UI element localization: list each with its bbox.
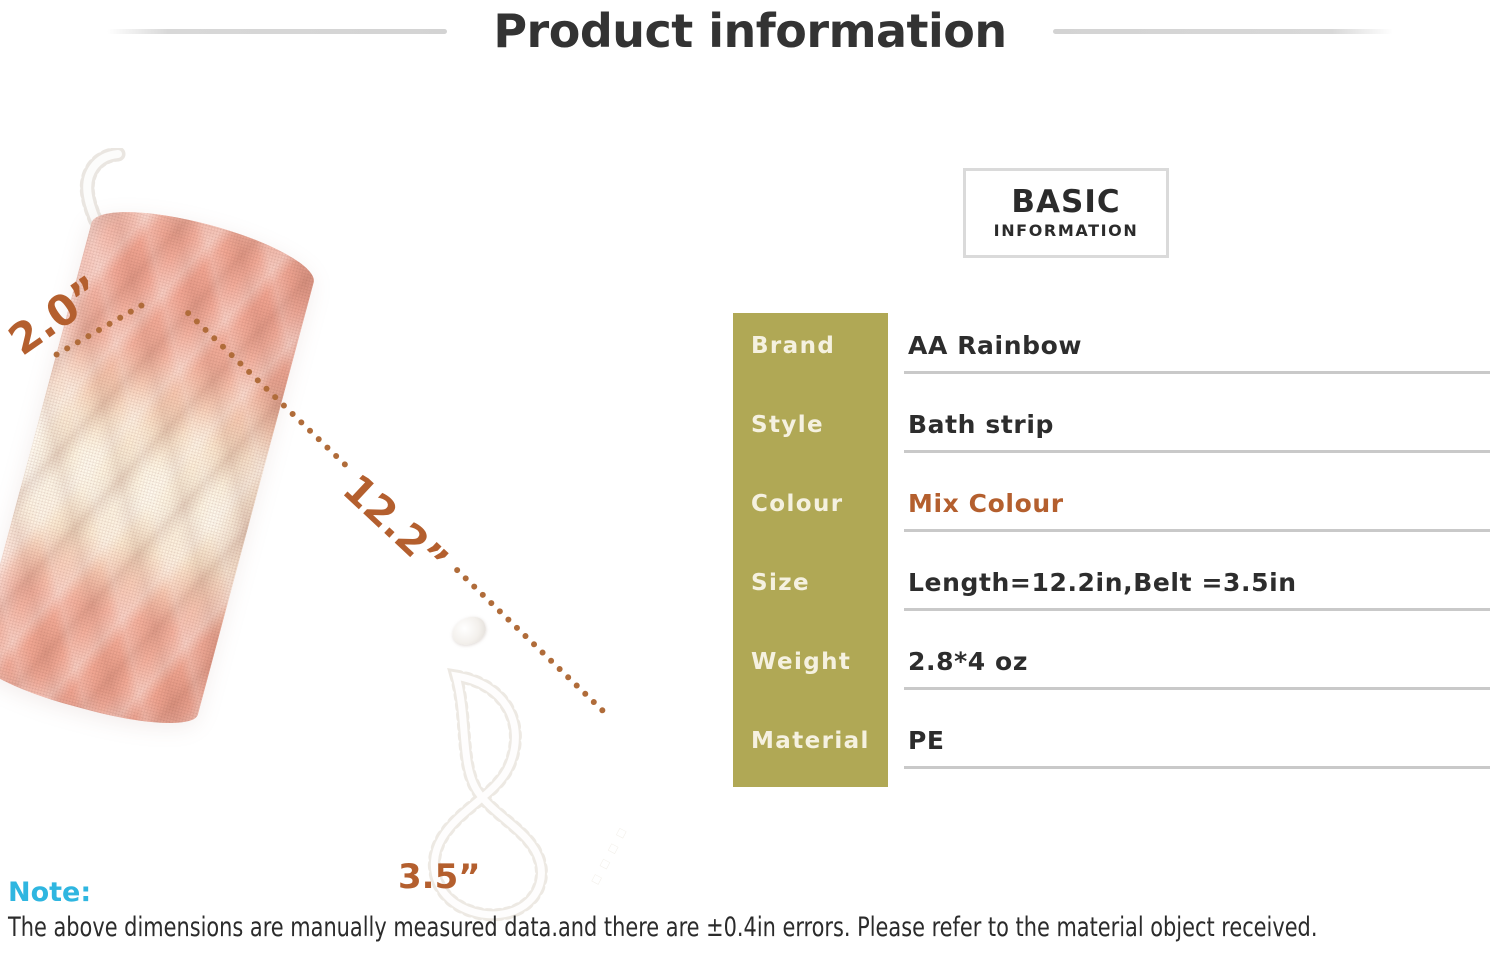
spec-rows: Brand AA Rainbow Style Bath strip Colour…: [733, 313, 1490, 787]
spec-underline: [904, 529, 1490, 532]
spec-underline: [904, 608, 1490, 611]
page-header: Product information: [0, 0, 1500, 62]
product-information-page: Product information: [0, 0, 1500, 968]
spec-value: Mix Colour: [908, 489, 1064, 518]
spec-label: Size: [751, 570, 891, 596]
spec-underline: [904, 450, 1490, 453]
spec-value: AA Rainbow: [908, 331, 1082, 360]
header-rule-left: [107, 29, 447, 34]
spec-underline: [904, 687, 1490, 690]
note-body: The above dimensions are manually measur…: [8, 913, 1291, 943]
note-block: Note: The above dimensions are manually …: [8, 878, 1500, 943]
spec-underline: [904, 766, 1490, 769]
braid-mesh-texture: [0, 195, 321, 737]
table-row: Material PE: [733, 708, 1490, 787]
basic-information-badge: BASIC INFORMATION: [963, 168, 1169, 258]
product-photo: 2.0” 12.2” 3.5” □ □ □ □ □ □ □ □: [0, 110, 700, 910]
spec-label: Material: [751, 728, 891, 754]
dimension-label-length: 12.2”: [336, 468, 455, 582]
note-heading: Note:: [8, 878, 1500, 908]
watermark-text: □ □ □ □: [589, 824, 631, 886]
table-row: Brand AA Rainbow: [733, 313, 1490, 392]
spec-value: Length=12.2in,Belt =3.5in: [908, 568, 1297, 597]
spec-value: PE: [908, 726, 945, 755]
spec-label: Colour: [751, 491, 891, 517]
specification-table: Brand AA Rainbow Style Bath strip Colour…: [733, 313, 1490, 787]
badge-title: BASIC: [1011, 186, 1120, 219]
spec-value: Bath strip: [908, 410, 1054, 439]
badge-subtitle: INFORMATION: [994, 221, 1139, 240]
spec-underline: [904, 371, 1490, 374]
table-row: Weight 2.8*4 oz: [733, 629, 1490, 708]
spec-label: Weight: [751, 649, 891, 675]
rope-knot: [449, 613, 489, 648]
spec-label: Style: [751, 412, 891, 438]
spec-value: 2.8*4 oz: [908, 647, 1028, 676]
table-row: Size Length=12.2in,Belt =3.5in: [733, 550, 1490, 629]
braided-bath-strip: [0, 195, 321, 737]
table-row: Style Bath strip: [733, 392, 1490, 471]
page-title: Product information: [493, 8, 1006, 54]
table-row: Colour Mix Colour: [733, 471, 1490, 550]
header-rule-right: [1053, 29, 1393, 34]
spec-label: Brand: [751, 333, 891, 359]
